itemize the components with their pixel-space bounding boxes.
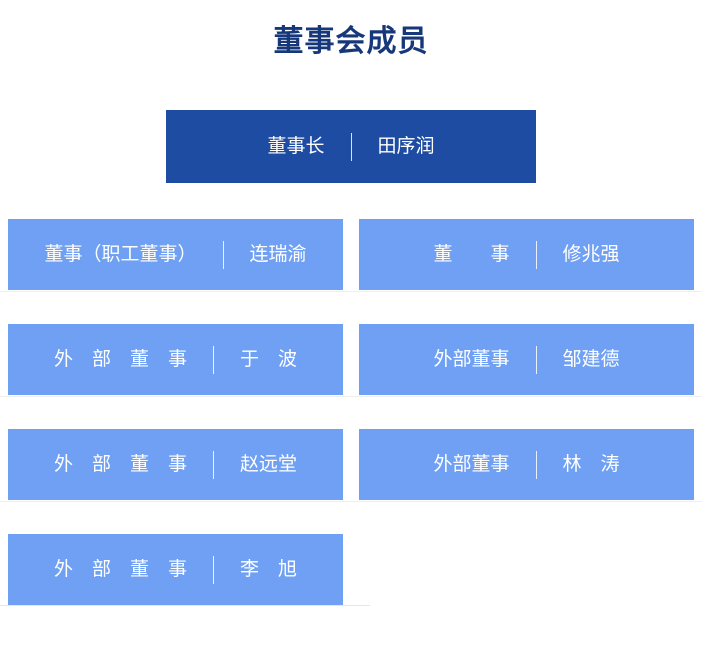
member-cell-slot: 外 部 董 事 李 旭 [0,534,351,606]
member-role: 董事（职工董事） [44,245,196,264]
member-name: 邹建德 [563,350,620,369]
member-role: 董 事 [433,245,509,264]
separator-icon [536,241,537,269]
separator-icon [351,133,352,161]
separator-icon [213,556,214,584]
empty-cell-slot [351,534,702,606]
member-cell-slot: 外 部 董 事 于 波 [0,324,351,396]
row-divider [0,396,702,397]
member-cell-slot: 外部董事 林 涛 [351,429,702,501]
chairman-name: 田序润 [378,137,435,156]
member-cell-slot: 外部董事 邹建德 [351,324,702,396]
member-cell-slot: 外 部 董 事 赵远堂 [0,429,351,501]
member-cell-slot: 董事（职工董事） 连瑞渝 [0,219,351,291]
chairman-card[interactable]: 董事长 田序润 [166,110,536,183]
separator-icon [223,241,224,269]
separator-icon [536,346,537,374]
member-role: 外 部 董 事 [54,560,187,579]
member-name: 于 波 [240,350,297,369]
member-card[interactable]: 外 部 董 事 李 旭 [8,534,343,605]
member-role: 外部董事 [433,455,509,474]
member-name: 赵远堂 [240,455,297,474]
member-grid: 董事（职工董事） 连瑞渝 董 事 修兆强 [0,219,702,606]
member-row: 外 部 董 事 赵远堂 外部董事 林 涛 [0,429,702,501]
member-role: 外 部 董 事 [54,455,187,474]
member-card[interactable]: 董 事 修兆强 [359,219,694,290]
member-card[interactable]: 外 部 董 事 于 波 [8,324,343,395]
board-members-page: 董事会成员 董事长 田序润 董事（职工董事） 连瑞渝 [0,0,702,652]
chairman-role: 董事长 [267,137,324,156]
member-card[interactable]: 董事（职工董事） 连瑞渝 [8,219,343,290]
board-members-chart: 董事长 田序润 董事（职工董事） 连瑞渝 董 事 [0,110,702,606]
member-name: 李 旭 [240,560,297,579]
member-name: 连瑞渝 [250,245,307,264]
member-name: 修兆强 [563,245,620,264]
member-row: 外 部 董 事 于 波 外部董事 邹建德 [0,324,702,396]
row-divider [0,291,702,292]
member-card[interactable]: 外 部 董 事 赵远堂 [8,429,343,500]
separator-icon [536,451,537,479]
row-divider [0,501,702,502]
member-role: 外 部 董 事 [54,350,187,369]
member-card[interactable]: 外部董事 邹建德 [359,324,694,395]
page-title: 董事会成员 [0,22,702,62]
member-role: 外部董事 [433,350,509,369]
separator-icon [213,451,214,479]
member-row: 董事（职工董事） 连瑞渝 董 事 修兆强 [0,219,702,291]
separator-icon [213,346,214,374]
chairman-row: 董事长 田序润 [0,110,702,183]
member-row: 外 部 董 事 李 旭 [0,534,702,606]
member-name: 林 涛 [563,455,620,474]
member-cell-slot: 董 事 修兆强 [351,219,702,291]
member-card[interactable]: 外部董事 林 涛 [359,429,694,500]
